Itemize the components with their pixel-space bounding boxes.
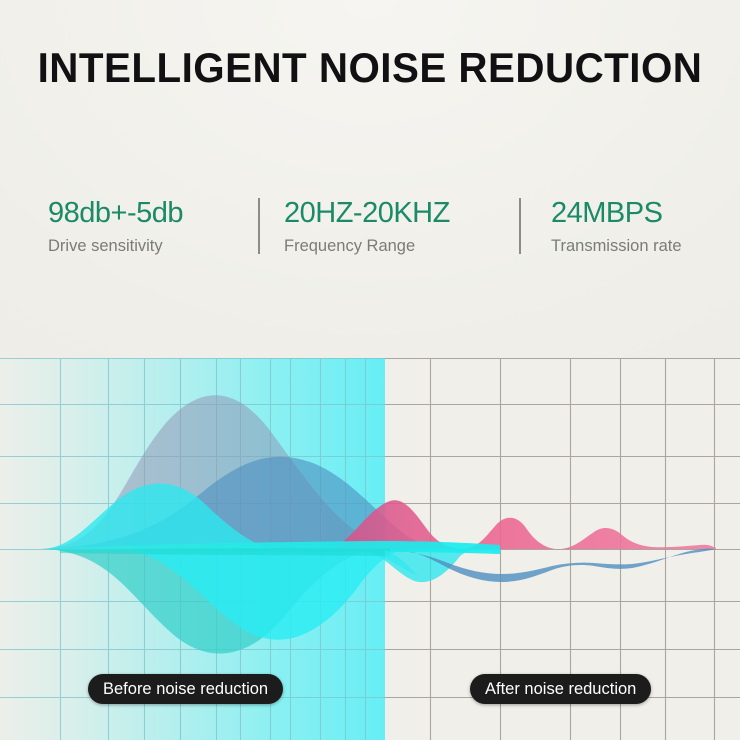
- page-title: INTELLIGENT NOISE REDUCTION: [15, 44, 725, 92]
- poster-root: INTELLIGENT NOISE REDUCTION 98db+-5db Dr…: [0, 0, 740, 740]
- spec-label: Frequency Range: [284, 236, 519, 256]
- spec-value: 20HZ-20KHZ: [284, 196, 519, 230]
- label-after-noise-reduction[interactable]: After noise reduction: [470, 674, 651, 704]
- spec-item-transmission-rate: 24MBPS Transmission rate: [551, 196, 682, 256]
- spec-value: 24MBPS: [551, 196, 682, 230]
- spec-item-frequency-range: 20HZ-20KHZ Frequency Range: [284, 196, 519, 256]
- waveform-chart: Before noise reduction After noise reduc…: [0, 358, 740, 740]
- spec-row: 98db+-5db Drive sensitivity 20HZ-20KHZ F…: [48, 196, 692, 266]
- spec-value: 98db+-5db: [48, 196, 258, 230]
- spec-label: Transmission rate: [551, 236, 682, 256]
- label-before-noise-reduction[interactable]: Before noise reduction: [88, 674, 283, 704]
- spec-item-drive-sensitivity: 98db+-5db Drive sensitivity: [48, 196, 258, 256]
- spec-divider-1: [258, 198, 260, 254]
- spec-divider-2: [519, 198, 521, 254]
- spec-label: Drive sensitivity: [48, 236, 258, 256]
